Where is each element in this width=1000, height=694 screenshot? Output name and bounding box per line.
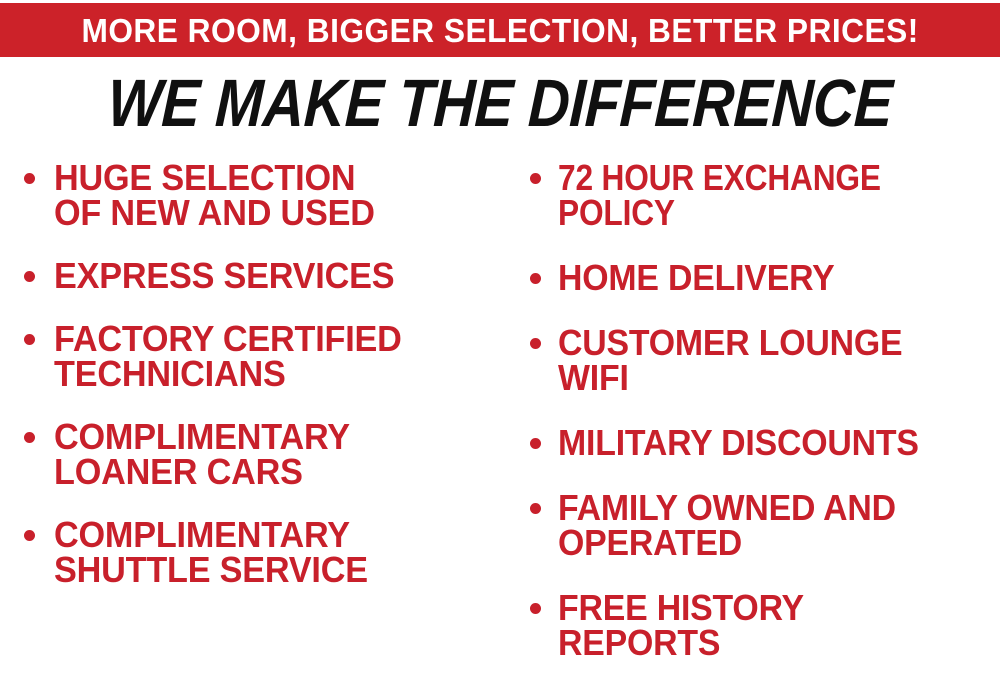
list-item: FREE HISTORY REPORTS — [518, 590, 1000, 660]
promo-banner-bar: MORE ROOM, BIGGER SELECTION, BETTER PRIC… — [0, 3, 1000, 57]
headline: WE MAKE THE DIFFERENCE — [0, 70, 1000, 137]
list-item: CUSTOMER LOUNGE WIFI — [518, 325, 1000, 395]
bullet-dot-icon — [530, 603, 541, 614]
list-item-label: FAMILY OWNED AND OPERATED — [558, 490, 973, 560]
bullet-dot-icon — [530, 273, 541, 284]
benefits-column-left: HUGE SELECTION OF NEW AND USED EXPRESS S… — [14, 160, 514, 615]
list-item: EXPRESS SERVICES — [14, 258, 514, 293]
bullet-dot-icon — [24, 432, 35, 443]
list-item: FACTORY CERTIFIED TECHNICIANS — [14, 321, 514, 391]
list-item: MILITARY DISCOUNTS — [518, 425, 1000, 460]
dealership-benefits-banner: MORE ROOM, BIGGER SELECTION, BETTER PRIC… — [0, 0, 1000, 694]
list-item: COMPLIMENTARY SHUTTLE SERVICE — [14, 517, 514, 587]
bullet-dot-icon — [24, 334, 35, 345]
list-item-label: MILITARY DISCOUNTS — [558, 425, 973, 460]
bullet-dot-icon — [530, 173, 541, 184]
list-item-label: COMPLIMENTARY SHUTTLE SERVICE — [54, 517, 491, 587]
benefits-columns: HUGE SELECTION OF NEW AND USED EXPRESS S… — [0, 160, 1000, 694]
list-item-label: CUSTOMER LOUNGE WIFI — [558, 325, 973, 395]
promo-banner-text: MORE ROOM, BIGGER SELECTION, BETTER PRIC… — [81, 14, 918, 47]
bullet-dot-icon — [530, 338, 541, 349]
list-item: HUGE SELECTION OF NEW AND USED — [14, 160, 514, 230]
list-item: FAMILY OWNED AND OPERATED — [518, 490, 1000, 560]
list-item-label: HUGE SELECTION OF NEW AND USED — [54, 160, 491, 230]
list-item-label: COMPLIMENTARY LOANER CARS — [54, 419, 491, 489]
bullet-dot-icon — [24, 271, 35, 282]
bullet-dot-icon — [24, 530, 35, 541]
benefits-column-right: 72 HOUR EXCHANGE POLICY HOME DELIVERY CU… — [518, 160, 1000, 690]
bullet-dot-icon — [530, 503, 541, 514]
list-item-label: HOME DELIVERY — [558, 260, 973, 295]
list-item: 72 HOUR EXCHANGE POLICY — [518, 160, 1000, 230]
list-item: HOME DELIVERY — [518, 260, 1000, 295]
list-item: COMPLIMENTARY LOANER CARS — [14, 419, 514, 489]
list-item-label: 72 HOUR EXCHANGE POLICY — [558, 160, 947, 230]
headline-text: WE MAKE THE DIFFERENCE — [106, 70, 893, 137]
list-item-label: FACTORY CERTIFIED TECHNICIANS — [54, 321, 491, 391]
list-item-label: EXPRESS SERVICES — [54, 258, 491, 293]
list-item-label: FREE HISTORY REPORTS — [558, 590, 973, 660]
bullet-dot-icon — [24, 173, 35, 184]
bullet-dot-icon — [530, 438, 541, 449]
